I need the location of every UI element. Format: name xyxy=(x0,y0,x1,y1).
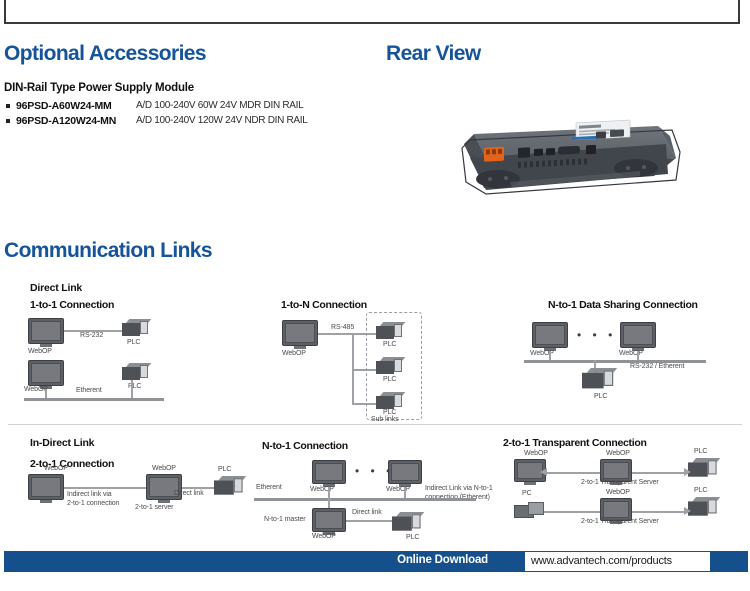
footer-online-download-label: Online Download xyxy=(397,554,488,566)
node-label-webop: WebOP xyxy=(606,489,630,496)
diagram-title-n-to-1: N-to-1 Connection xyxy=(262,440,348,452)
node-label-plc: PLC xyxy=(383,376,396,383)
accessories-list: 96PSD-A60W24-MM A/D 100-240V 60W 24V MDR… xyxy=(6,100,366,130)
node-label-webop: WebOP xyxy=(619,350,643,357)
link-wire xyxy=(64,487,146,489)
page-title-rear-view: Rear View xyxy=(386,42,481,66)
device-webop-monitor xyxy=(388,460,422,484)
device-plc xyxy=(582,368,613,388)
node-label-plc: PLC xyxy=(128,383,141,390)
node-label-webop: WebOP xyxy=(282,350,306,357)
link-label-ethernet: Etherent xyxy=(76,387,102,394)
node-label-webop: WebOP xyxy=(606,450,630,457)
indirect-line-1: Indirect Link via N-to-1 xyxy=(425,484,493,493)
label-n-to-1-master: N-to-1 master xyxy=(264,516,306,523)
bullet-icon xyxy=(6,119,10,123)
list-item: 96PSD-A120W24-MN A/D 100-240V 120W 24V N… xyxy=(6,115,366,130)
device-plc xyxy=(688,497,717,516)
device-webop-monitor xyxy=(28,318,64,344)
device-webop-monitor xyxy=(620,322,656,348)
accessory-description: A/D 100-240V 120W 24V NDR DIN RAIL xyxy=(136,115,308,126)
device-plc xyxy=(376,392,402,409)
monitor-stand xyxy=(40,500,52,503)
list-item: 96PSD-A60W24-MM A/D 100-240V 60W 24V MDR… xyxy=(6,100,366,115)
link-label-rs485: RS-485 xyxy=(331,324,354,331)
device-plc xyxy=(122,363,148,380)
monitor-stand xyxy=(524,482,536,485)
bullet-icon xyxy=(6,104,10,108)
link-wire xyxy=(544,511,600,513)
indirect-line-1: Indirect link via xyxy=(67,490,119,499)
diagram-title-1-to-n: 1-to-N Connection xyxy=(281,299,367,311)
caption-transparent-server: 2-to-1 Transparent Server xyxy=(581,479,659,486)
arrow-right-icon xyxy=(684,507,691,515)
device-plc xyxy=(376,357,402,374)
node-label-plc: PLC xyxy=(218,466,231,473)
node-label-pc: PC xyxy=(522,490,532,497)
device-plc xyxy=(376,322,402,339)
diagram-title-1-to-1: 1-to-1 Connection xyxy=(30,299,114,311)
diagram-title-2-to-1: 2-to-1 Connection xyxy=(30,458,114,470)
indirect-line-2: 2-to-1 connection xyxy=(67,499,119,508)
monitor-stand xyxy=(294,346,306,349)
node-label-webop: WebOP xyxy=(310,486,334,493)
page-title-optional-accessories: Optional Accessories xyxy=(4,42,206,66)
node-label-webop-master: WebOP xyxy=(312,533,336,540)
node-label-plc: PLC xyxy=(594,393,607,400)
device-webop-monitor xyxy=(312,460,346,484)
node-label-webop: WebOP xyxy=(152,465,176,472)
diagram-group-title-direct-link: Direct Link xyxy=(30,282,82,294)
node-label-plc: PLC xyxy=(383,409,396,416)
node-label-webop: WebOP xyxy=(28,348,52,355)
bus-label-ethernet: Etherent xyxy=(256,484,282,491)
diagram-title-n-to-1-sharing: N-to-1 Data Sharing Connection xyxy=(548,299,698,311)
node-label-plc: PLC xyxy=(406,534,419,541)
device-webop-monitor xyxy=(28,474,64,500)
link-wire xyxy=(182,487,218,489)
bus-line-ethernet xyxy=(24,398,164,401)
link-label-indirect: Indirect link via 2-to-1 connection xyxy=(67,490,119,508)
link-label-rs232-ethernet: RS-232 / Etherent xyxy=(630,363,684,370)
device-webop-monitor xyxy=(312,508,346,532)
page-title-communication-links: Communication Links xyxy=(4,239,212,263)
node-label-webop: WebOP xyxy=(524,450,548,457)
diagram-group-title-indirect-link: In-Direct Link xyxy=(30,437,94,449)
link-wire xyxy=(346,520,394,522)
diagram-title-2-to-1-transparent: 2-to-1 Transparent Connection xyxy=(503,437,647,449)
accessory-description: A/D 100-240V 60W 24V MDR DIN RAIL xyxy=(136,100,303,111)
device-webop-monitor xyxy=(28,360,64,386)
panel-cutout-box: Panel Cutout Dimensions: 221 x 164 mm (8… xyxy=(4,0,740,24)
drop-wire xyxy=(131,380,133,399)
node-label-plc: PLC xyxy=(127,339,140,346)
accessories-subheading: DIN-Rail Type Power Supply Module xyxy=(4,82,194,94)
label-2-to-1-server: 2-to-1 server xyxy=(135,504,173,511)
device-plc xyxy=(392,512,421,531)
link-label-rs232: RS-232 xyxy=(80,332,103,339)
device-pc xyxy=(514,502,544,518)
link-wire xyxy=(546,472,600,474)
node-label-plc: PLC xyxy=(694,487,707,494)
node-label-webop: WebOP xyxy=(386,486,410,493)
monitor-stand xyxy=(40,344,52,347)
monitor-stand xyxy=(158,500,170,503)
communication-diagrams: Direct Link 1-to-1 Connection WebOP RS-2… xyxy=(0,268,750,540)
node-label-plc: PLC xyxy=(383,341,396,348)
link-label-direct: Direct link xyxy=(174,490,204,497)
link-wire xyxy=(632,511,688,513)
link-label-direct: Direct link xyxy=(352,509,382,516)
accessory-part-number: 96PSD-A60W24-MM xyxy=(16,100,112,112)
rear-view-product-photo xyxy=(440,96,692,208)
link-wire xyxy=(632,472,688,474)
node-label-plc: PLC xyxy=(694,448,707,455)
device-webop-monitor xyxy=(282,320,318,346)
device-webop-monitor xyxy=(532,322,568,348)
sub-links-label: Sub links xyxy=(371,416,399,423)
bus-line-ethernet xyxy=(254,498,476,501)
caption-transparent-server: 2-to-1 Transparent Server xyxy=(581,518,659,525)
arrow-right-icon xyxy=(684,468,691,476)
device-plc xyxy=(688,458,717,477)
device-plc xyxy=(214,476,243,495)
accessory-part-number: 96PSD-A120W24-MN xyxy=(16,115,116,127)
ellipsis-indicator: • • • xyxy=(577,331,616,339)
arrow-left-icon xyxy=(540,468,547,476)
footer-url-text[interactable]: www.advantech.com/products xyxy=(531,555,672,567)
device-plc xyxy=(122,319,148,336)
node-label-webop: WebOP xyxy=(44,465,68,472)
